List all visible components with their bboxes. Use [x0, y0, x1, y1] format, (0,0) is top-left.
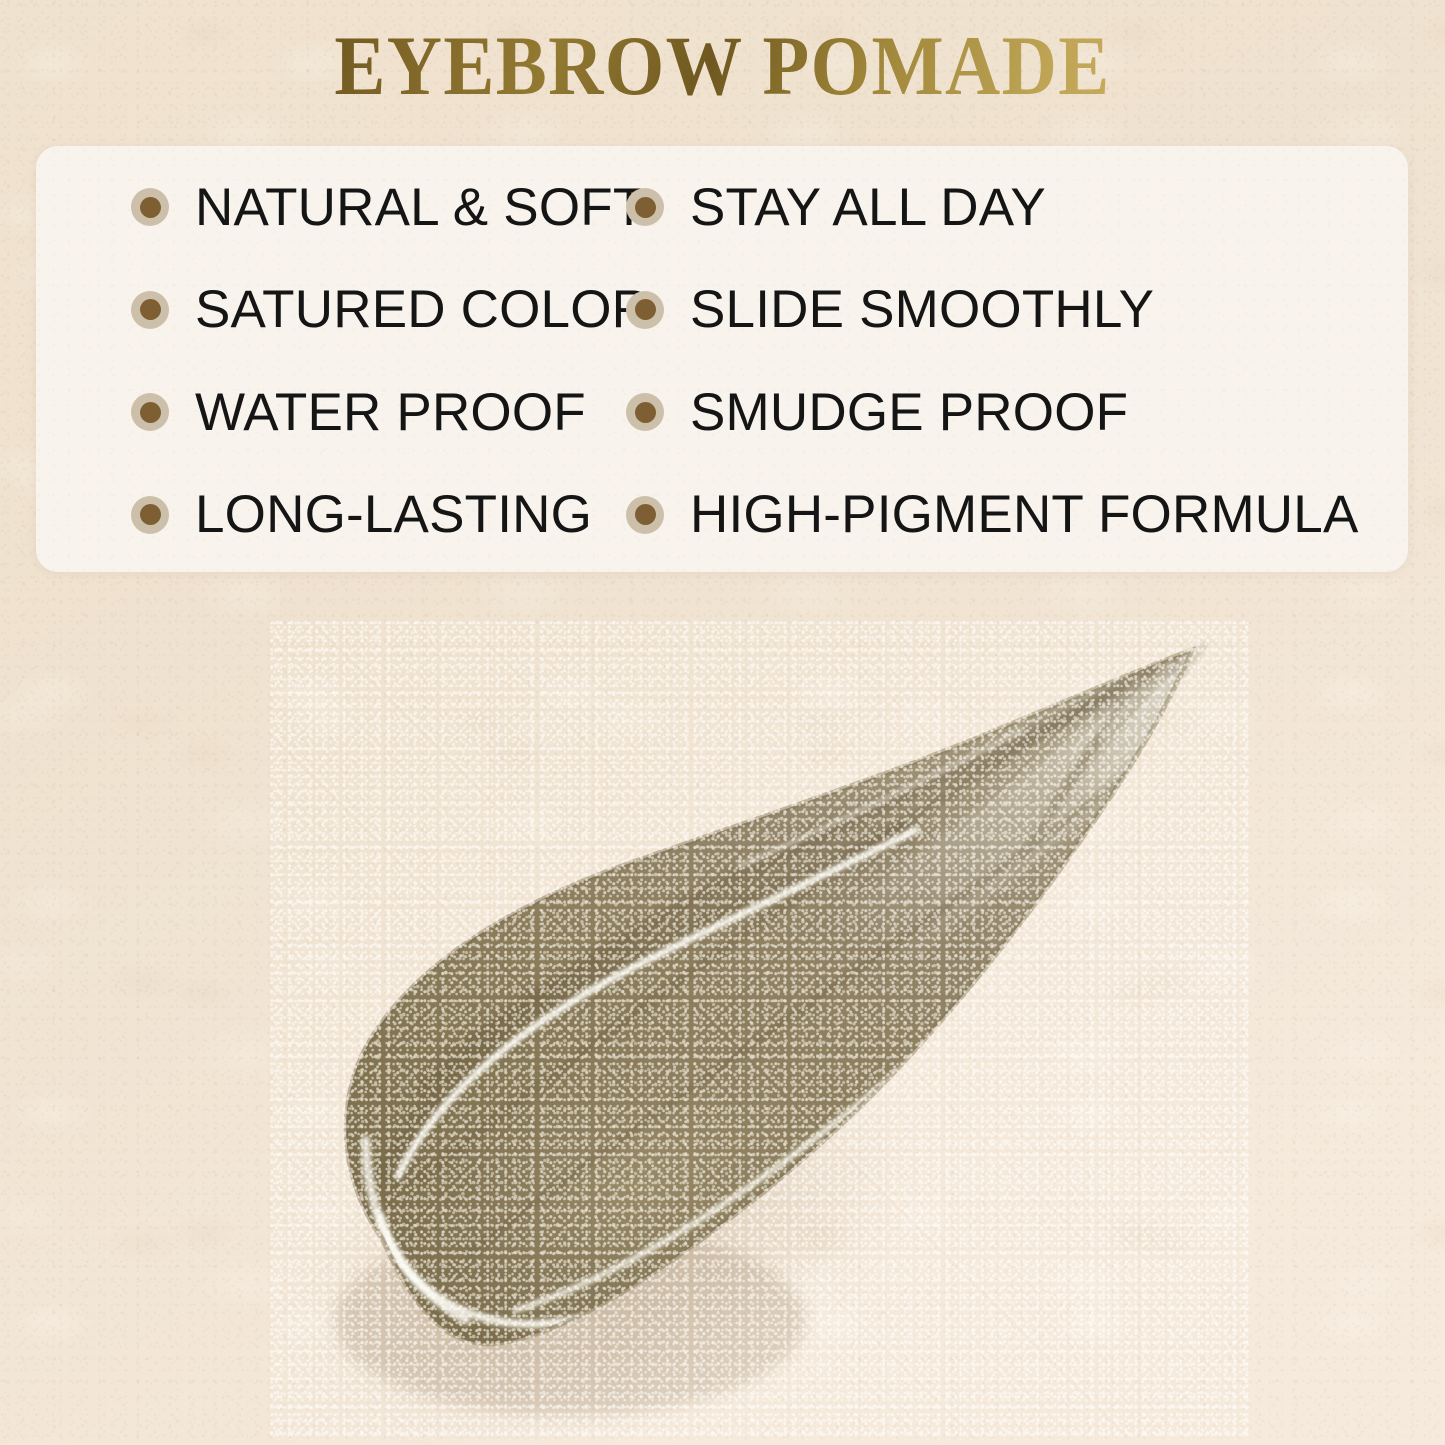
- feature-item-smudge-proof: SMUDGE PROOF: [616, 386, 1408, 439]
- bullet-dot-icon: [131, 188, 169, 226]
- swatch-body: [270, 620, 1250, 1440]
- feature-item-high-pigment-formula: HIGH-PIGMENT FORMULA: [616, 488, 1408, 541]
- feature-label: STAY ALL DAY: [690, 181, 1046, 234]
- product-swatch-image: [250, 600, 1270, 1445]
- feature-label: WATER PROOF: [195, 386, 586, 439]
- feature-label: NATURAL & SOFT: [195, 181, 645, 234]
- feature-item-water-proof: WATER PROOF: [36, 386, 616, 439]
- bullet-dot-icon: [131, 291, 169, 329]
- bullet-dot-icon: [626, 393, 664, 431]
- feature-label: LONG-LASTING: [195, 488, 592, 541]
- feature-label: SATURED COLOR: [195, 283, 650, 336]
- bullet-dot-icon: [131, 393, 169, 431]
- feature-label: HIGH-PIGMENT FORMULA: [690, 488, 1359, 541]
- feature-item-satured-color: SATURED COLOR: [36, 283, 616, 336]
- feature-label: SLIDE SMOOTHLY: [690, 283, 1154, 336]
- bullet-dot-icon: [626, 496, 664, 534]
- page-title: EYEBROW POMADE: [72, 18, 1373, 114]
- product-feature-graphic: EYEBROW POMADE NATURAL & SOFT STAY ALL D…: [0, 0, 1445, 1445]
- feature-item-stay-all-day: STAY ALL DAY: [616, 181, 1408, 234]
- feature-label: SMUDGE PROOF: [690, 386, 1128, 439]
- features-card: NATURAL & SOFT STAY ALL DAY SATURED COLO…: [36, 146, 1408, 572]
- bullet-dot-icon: [626, 188, 664, 226]
- features-list: NATURAL & SOFT STAY ALL DAY SATURED COLO…: [36, 146, 1408, 572]
- bullet-dot-icon: [626, 291, 664, 329]
- feature-item-natural-soft: NATURAL & SOFT: [36, 181, 616, 234]
- feature-item-long-lasting: LONG-LASTING: [36, 488, 616, 541]
- bullet-dot-icon: [131, 496, 169, 534]
- feature-item-slide-smoothly: SLIDE SMOOTHLY: [616, 283, 1408, 336]
- swatch-vector: [270, 620, 1250, 1440]
